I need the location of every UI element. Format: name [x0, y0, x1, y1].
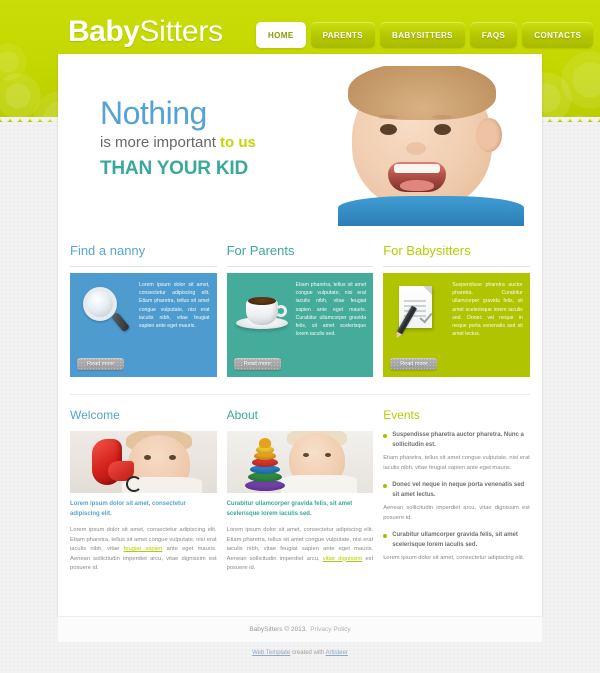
column-about: About Curabitur ullamcorper gravida feli…	[227, 407, 374, 574]
footer-privacy-policy-link[interactable]: Privacy Policy	[310, 626, 350, 633]
feature-find-a-nanny: Find a nanny Lorem ipsum dolor sit amet,…	[70, 242, 217, 377]
event-headline: Donec vel neque in neque porta venenatis…	[392, 481, 530, 500]
credit-artisteer-link[interactable]: Artisteer	[326, 650, 348, 656]
feature-title-find-a-nanny: Find a nanny	[70, 242, 217, 267]
baby-tongue-shape	[400, 180, 434, 191]
magnifier-icon	[77, 283, 133, 335]
bullet-icon	[383, 534, 387, 538]
feature-for-babysitters: For Babysitters Suspendisse pharetra auc…	[383, 242, 530, 377]
feature-for-parents: For Parents Etiam pharetra, tellus sit a…	[227, 242, 374, 377]
baby-teeth-shape	[394, 164, 440, 173]
feature-title-for-parents: For Parents	[227, 242, 374, 267]
column-title-events: Events	[383, 407, 530, 423]
hero-banner: Nothing is more important to us THAN YOU…	[70, 66, 530, 226]
site-footer: BabySitters © 2013. Privacy Policy	[58, 616, 542, 642]
feature-box-find-a-nanny: Lorem ipsum dolor sit amet, consectetur …	[70, 273, 217, 377]
baby-mouth-shape	[388, 162, 446, 192]
column-events: Events Suspendisse pharetra auctor phare…	[383, 407, 530, 574]
read-more-button-find-a-nanny[interactable]: Read more	[77, 358, 124, 370]
baby-nose-shape	[406, 142, 426, 155]
template-credit: Web Template created with Artisteer	[0, 650, 600, 656]
logo-light-text: Sitters	[139, 15, 223, 48]
baby-brow-left	[378, 115, 398, 119]
event-body: Etiam pharetra, tellus sit amet congue v…	[383, 454, 530, 473]
welcome-body-text: Lorem ipsum dolor sit amet, consectetur …	[70, 526, 217, 574]
welcome-inline-link[interactable]: feugiat sapien	[124, 546, 163, 552]
hero-headline-line3: THAN YOUR KID	[100, 157, 350, 181]
baby-shirt-shape	[338, 196, 524, 226]
coffee-cup-icon	[234, 283, 290, 335]
read-more-button-for-parents[interactable]: Read more	[234, 358, 281, 370]
read-more-button-for-babysitters[interactable]: Read more	[390, 358, 437, 370]
baby-hair-shape	[348, 66, 496, 120]
nav-item-home[interactable]: HOME	[256, 22, 306, 48]
hero-baby-photo	[330, 66, 530, 226]
feature-title-for-babysitters: For Babysitters	[383, 242, 530, 267]
footer-copyright: BabySitters © 2013.	[249, 626, 307, 633]
event-list-item: Suspendisse pharetra auctor pharetra. Nu…	[383, 431, 530, 450]
feature-box-for-parents: Etiam pharetra, tellus sit amet congue v…	[227, 273, 374, 377]
event-list-item: Donec vel neque in neque porta venenatis…	[383, 481, 530, 500]
baby-brow-right	[432, 115, 452, 119]
nav-item-babysitters[interactable]: BABYSITTERS	[380, 22, 465, 48]
event-list-item: Curabitur ullamcorper gravida felis, sit…	[383, 531, 530, 550]
baby-ear-shape	[476, 118, 502, 152]
column-title-welcome: Welcome	[70, 407, 217, 423]
main-navigation: HOME PARENTS BABYSITTERS FAQS CONTACTS	[256, 22, 593, 48]
about-photo	[227, 431, 374, 493]
hero-text-block: Nothing is more important to us THAN YOU…	[100, 96, 350, 181]
event-body: Lorem ipsum dolor sit amet, consectetur …	[383, 554, 530, 564]
baby-eye-right	[434, 124, 451, 135]
bullet-icon	[383, 434, 387, 438]
event-body: Aenean sollicitudin imperdiet arcu, vita…	[383, 504, 530, 523]
column-title-about: About	[227, 407, 374, 423]
hero-line2-accent: to us	[220, 134, 256, 151]
hero-line2-plain: is more important	[100, 134, 220, 151]
credit-web-template-link[interactable]: Web Template	[252, 650, 290, 656]
hero-headline-line2: is more important to us	[100, 132, 350, 154]
nav-item-contacts[interactable]: CONTACTS	[522, 22, 593, 48]
event-headline: Curabitur ullamcorper gravida felis, sit…	[392, 531, 530, 550]
baby-eye-left	[380, 124, 397, 135]
about-inline-link[interactable]: vitae dignissim	[323, 556, 363, 562]
bottom-columns-section: Welcome Lorem ipsum dolor sit amet, cons…	[70, 394, 530, 574]
credit-middle-text: created with	[290, 650, 325, 656]
nav-item-faqs[interactable]: FAQS	[470, 22, 517, 48]
hero-headline-line1: Nothing	[100, 96, 350, 130]
content-sheet: Nothing is more important to us THAN YOU…	[58, 54, 542, 616]
features-section: Find a nanny Lorem ipsum dolor sit amet,…	[70, 242, 530, 377]
about-lead-text: Curabitur ullamcorper gravida felis, sit…	[227, 500, 374, 519]
feature-box-for-babysitters: Suspendisse pharetra auctor pharetra. Cu…	[383, 273, 530, 377]
welcome-photo	[70, 431, 217, 493]
event-headline: Suspendisse pharetra auctor pharetra. Nu…	[392, 431, 530, 450]
nav-item-parents[interactable]: PARENTS	[311, 22, 375, 48]
logo-bold-text: Baby	[68, 15, 139, 48]
document-pen-icon	[390, 283, 446, 335]
about-body-text: Lorem ipsum dolor sit amet, consectetur …	[227, 526, 374, 574]
welcome-lead-text: Lorem ipsum dolor sit amet, consectetur …	[70, 500, 217, 519]
bullet-icon	[383, 484, 387, 488]
column-welcome: Welcome Lorem ipsum dolor sit amet, cons…	[70, 407, 217, 574]
site-logo[interactable]: BabySitters	[68, 15, 223, 49]
